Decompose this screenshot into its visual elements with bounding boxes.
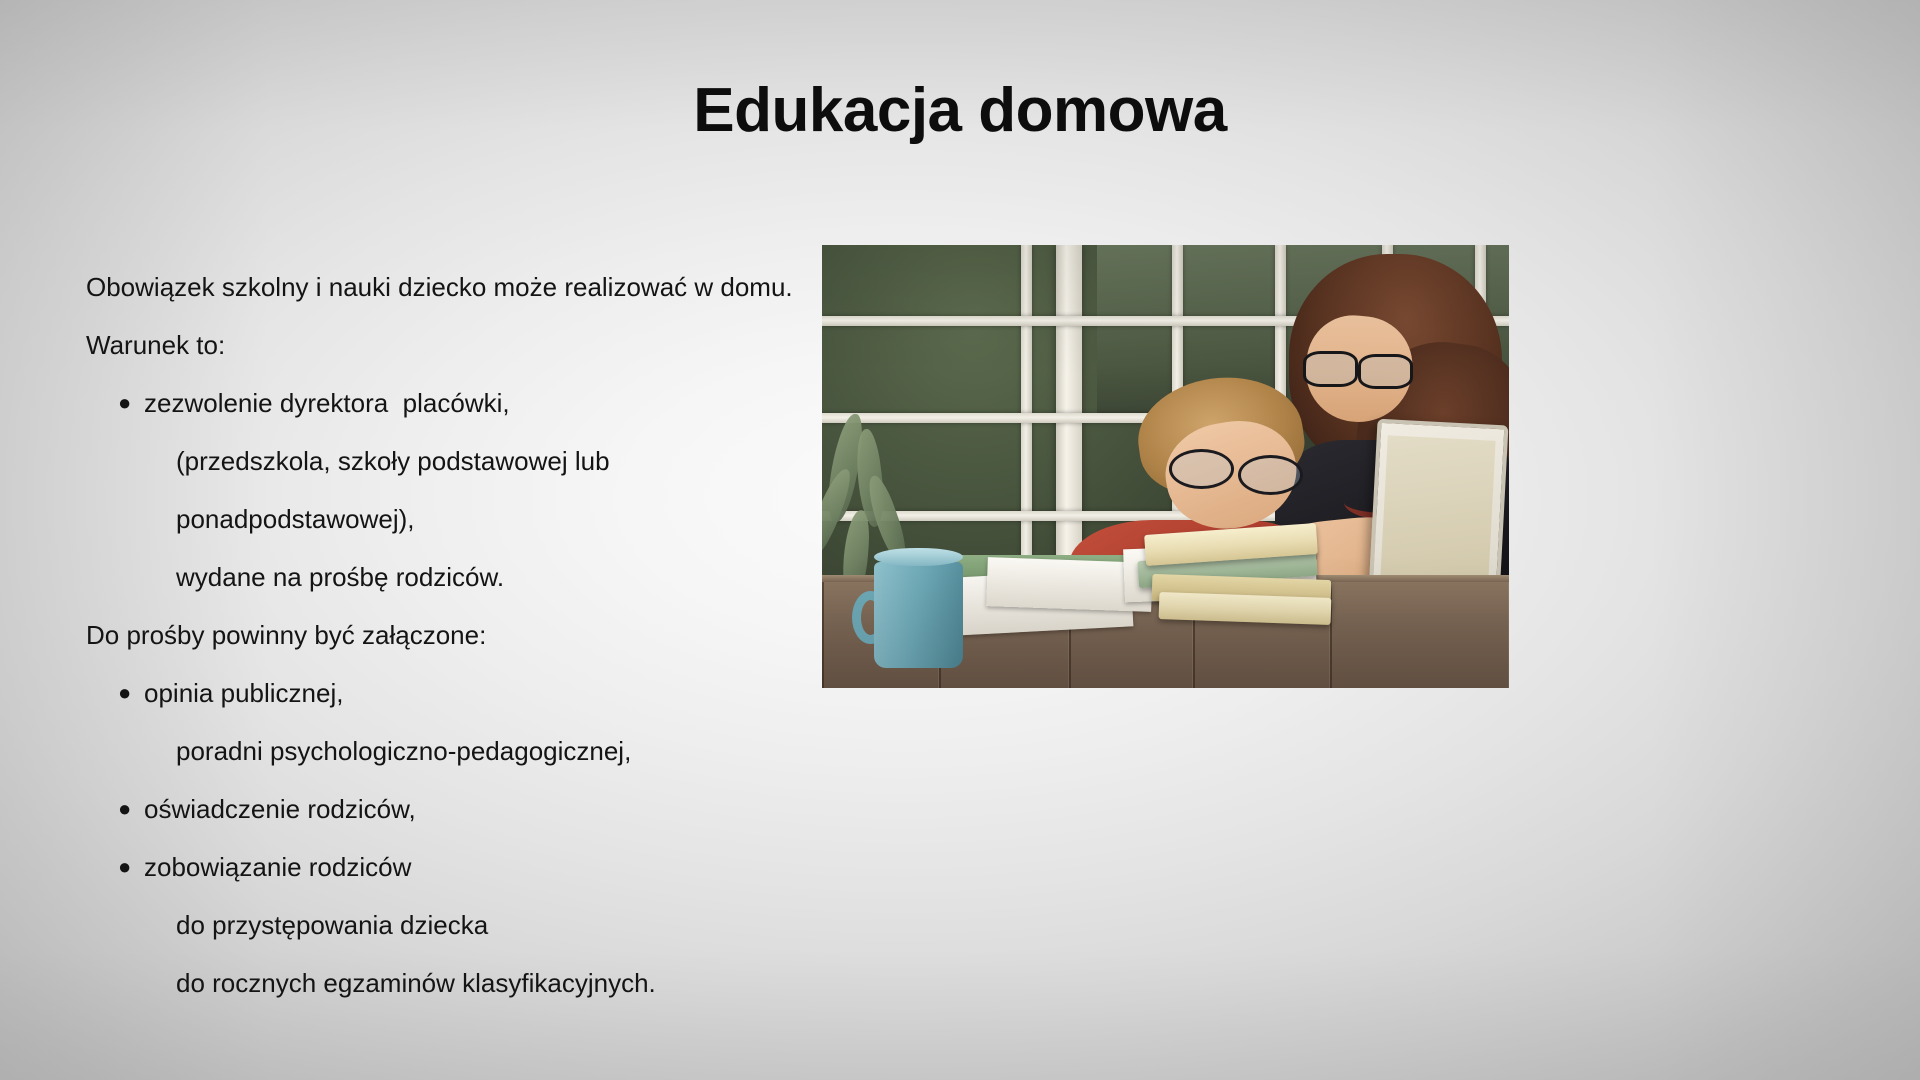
list-item-continuation: ponadpodstawowej), [86, 490, 876, 548]
slide-body-text: Obowiązek szkolny i nauki dziecko może r… [86, 258, 876, 1012]
slide-photo [822, 245, 1509, 688]
photo-shading-overlay [822, 245, 1509, 688]
section-heading-attachments: Do prośby powinny być załączone: [86, 606, 876, 664]
bullet-marker-icon: ● [86, 664, 144, 722]
page-title: Edukacja domowa [0, 75, 1920, 146]
list-item-continuation: do rocznych egzaminów klasyfikacyjnych. [86, 954, 876, 1012]
list-item-label: oświadczenie rodziców, [144, 780, 416, 838]
list-item-continuation: do przystępowania dziecka [86, 896, 876, 954]
intro-paragraph-2: Warunek to: [86, 316, 876, 374]
list-item: ● zezwolenie dyrektora placówki, [86, 374, 876, 432]
list-item-label: opinia publicznej, [144, 664, 343, 722]
list-item-label: zobowiązanie rodziców [144, 838, 411, 896]
bullet-marker-icon: ● [86, 374, 144, 432]
bullet-marker-icon: ● [86, 780, 144, 838]
list-item-continuation: (przedszkola, szkoły podstawowej lub [86, 432, 876, 490]
bullet-marker-icon: ● [86, 838, 144, 896]
intro-paragraph-1: Obowiązek szkolny i nauki dziecko może r… [86, 258, 876, 316]
list-item: ● zobowiązanie rodziców [86, 838, 876, 896]
slide-canvas: Edukacja domowa Obowiązek szkolny i nauk… [0, 0, 1920, 1080]
list-item-continuation: wydane na prośbę rodziców. [86, 548, 876, 606]
list-item-continuation: poradni psychologiczno-pedagogicznej, [86, 722, 876, 780]
list-item: ● oświadczenie rodziców, [86, 780, 876, 838]
list-item: ● opinia publicznej, [86, 664, 876, 722]
list-item-label: zezwolenie dyrektora placówki, [144, 374, 510, 432]
